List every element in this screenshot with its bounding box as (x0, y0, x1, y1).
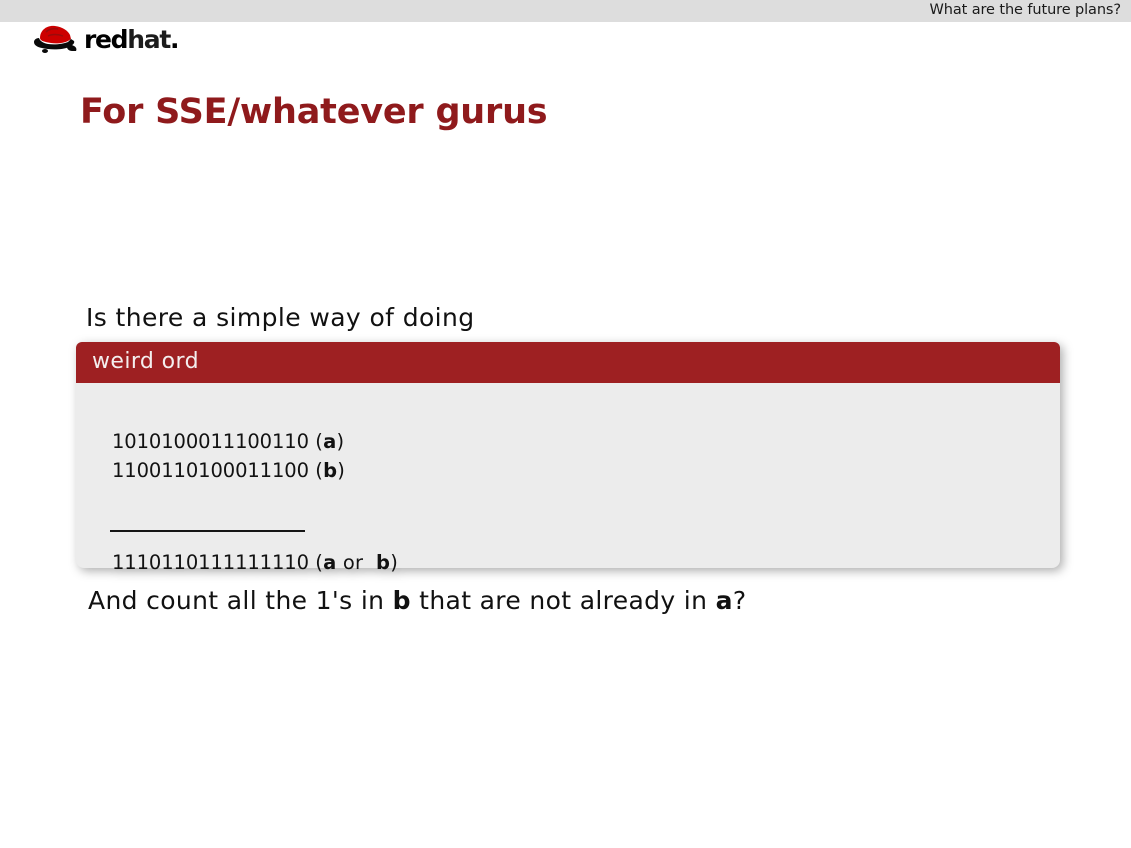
operand-label-b: (b) (309, 459, 345, 482)
block-title-text: weird ord (92, 349, 199, 374)
page-title: For SSE/whatever gurus (80, 92, 547, 132)
redhat-shadowman-icon (30, 22, 82, 54)
tail-bold-a: a (716, 586, 733, 615)
operand-label-a: (a) (309, 430, 344, 453)
lead-sentence: Is there a simple way of doing (86, 303, 475, 332)
operand-line-b: 1100110100011100 (112, 459, 309, 482)
logo-word-red: red (84, 25, 127, 54)
frame-headline: What are the future plans? (930, 2, 1121, 18)
logo-word-dot: . (170, 25, 178, 54)
beamer-block: weird ord 1010100011100110 (a)1100110100… (76, 342, 1060, 568)
tail-text-before: And count all the 1's in (88, 586, 393, 615)
redhat-logo: redhat. (30, 20, 178, 54)
redhat-wordmark: redhat. (84, 27, 178, 52)
result-line: 1110110111111110 (a or b) (112, 551, 398, 574)
result-label: (a or b) (309, 551, 398, 574)
result-bits: 1110110111111110 (112, 551, 309, 574)
operand-line-a: 1010100011100110 (112, 430, 309, 453)
operation-divider-rule (110, 530, 305, 532)
logo-word-hat: hat (127, 25, 170, 54)
top-navigation-bar: What are the future plans? (0, 0, 1131, 22)
tail-text-middle: that are not already in (411, 586, 716, 615)
slide-canvas: What are the future plans? redhat. For S… (0, 0, 1131, 848)
tail-text-after: ? (733, 586, 747, 615)
operand-lines: 1010100011100110 (a)1100110100011100 (b) (112, 427, 345, 485)
tail-sentence: And count all the 1's in b that are not … (88, 586, 746, 615)
tail-bold-b: b (393, 586, 411, 615)
block-body: 1010100011100110 (a)1100110100011100 (b)… (76, 383, 1060, 568)
block-title-bar: weird ord (76, 342, 1060, 383)
